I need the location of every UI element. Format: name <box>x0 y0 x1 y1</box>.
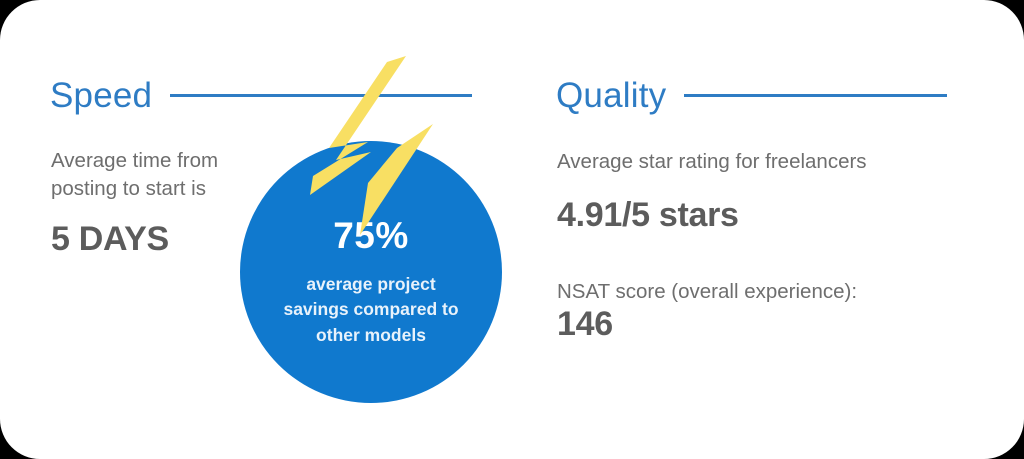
quality-rating-value: 4.91/5 stars <box>557 198 739 232</box>
quality-heading-rule <box>684 94 947 97</box>
quality-section-heading: Quality <box>556 78 947 113</box>
savings-caption: average project savings compared to othe… <box>283 272 458 348</box>
speed-heading-rule <box>170 94 472 97</box>
savings-circle: 75% average project savings compared to … <box>240 141 502 403</box>
speed-description: Average time from posting to start is <box>51 147 266 204</box>
quality-nsat-value: 146 <box>557 307 613 341</box>
savings-percent: 75% <box>333 217 409 254</box>
infographic-card: Speed Average time from posting to start… <box>0 0 1024 459</box>
quality-rating-label: Average star rating for freelancers <box>557 148 867 176</box>
quality-heading-label: Quality <box>556 78 666 113</box>
speed-section-heading: Speed <box>50 78 472 113</box>
quality-nsat-label: NSAT score (overall experience): <box>557 278 857 306</box>
speed-stat-value: 5 DAYS <box>51 222 169 256</box>
speed-heading-label: Speed <box>50 78 152 113</box>
